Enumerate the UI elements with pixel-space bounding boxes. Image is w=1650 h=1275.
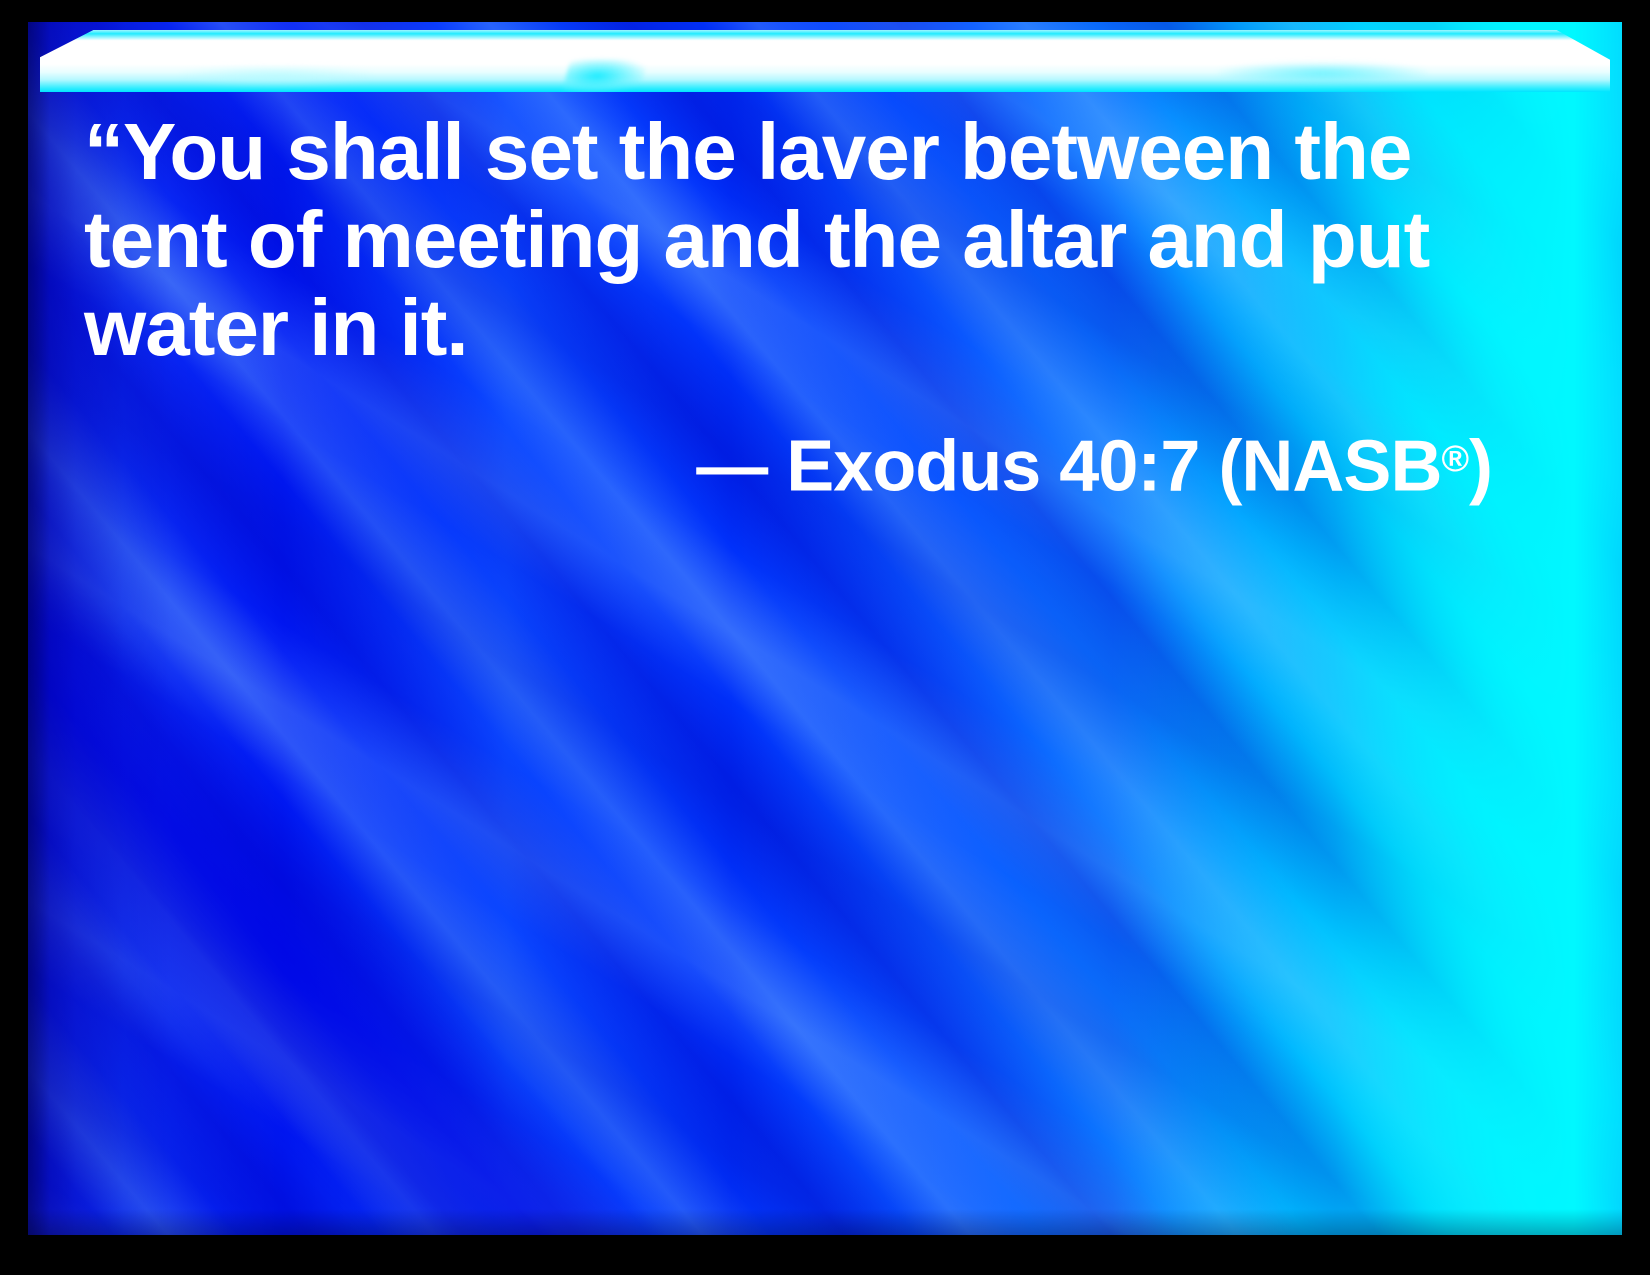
attribution-space-1 bbox=[767, 426, 786, 506]
slide-frame: “You shall set the laver between the ten… bbox=[0, 0, 1650, 1275]
attribution-translation: NASB bbox=[1241, 426, 1441, 506]
slide-canvas: “You shall set the laver between the ten… bbox=[28, 22, 1622, 1235]
verse-attribution: — Exodus 40:7 (NASB®) bbox=[84, 418, 1504, 506]
attribution-open-paren: ( bbox=[1218, 426, 1241, 506]
registered-trademark-icon: ® bbox=[1441, 437, 1469, 479]
attribution-close-paren: ) bbox=[1469, 426, 1492, 506]
verse-text: “You shall set the laver between the ten… bbox=[84, 108, 1504, 372]
header-band-cyan-blob-left bbox=[181, 66, 371, 86]
verse-block: “You shall set the laver between the ten… bbox=[84, 108, 1504, 506]
header-band-cyan-blob-right bbox=[1218, 62, 1428, 84]
attribution-space-2 bbox=[1199, 426, 1218, 506]
attribution-reference: Exodus 40:7 bbox=[786, 426, 1199, 506]
header-decorative-band bbox=[40, 30, 1610, 92]
header-band-cyan-blob-center bbox=[562, 59, 648, 93]
attribution-dash: — bbox=[696, 426, 767, 506]
